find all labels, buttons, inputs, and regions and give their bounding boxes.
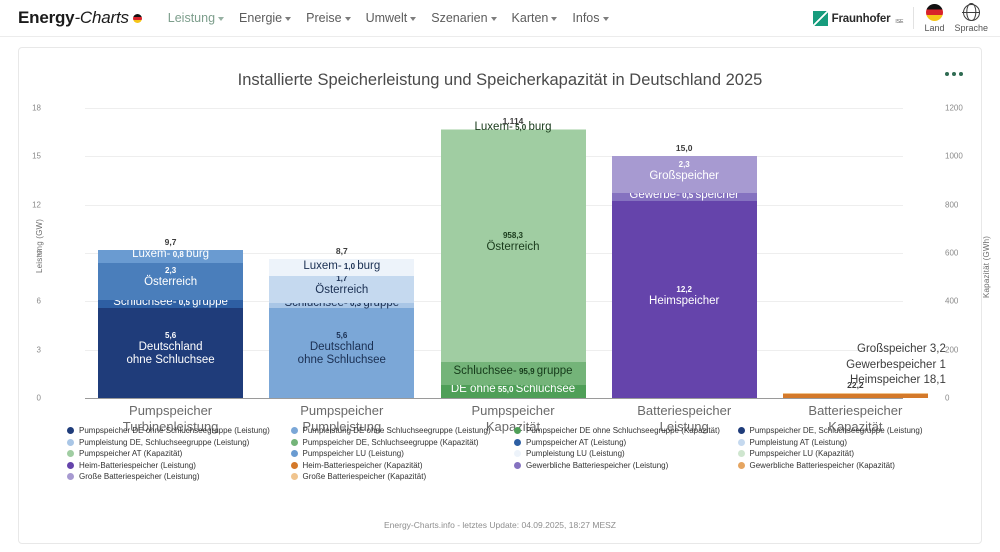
bar-segment-label: Luxem- 0,8 burg (98, 248, 243, 261)
bar-segment[interactable]: 2,3Österreich (98, 263, 243, 300)
brand-name-italic: -Charts (74, 8, 128, 28)
header-right-controls: Fraunhofer ISE Land Sprache (813, 0, 988, 36)
y-axis-right-tick: 200 (945, 345, 958, 354)
legend-item[interactable]: Pumpspeicher LU (Kapazität) (738, 449, 962, 458)
chevron-down-icon (551, 17, 557, 21)
bar-segment[interactable]: Schluchsee- 0,5 gruppe (98, 300, 243, 308)
country-selector-label: Land (924, 23, 944, 33)
bar-segment-value: 5,6 (269, 332, 414, 341)
bar-segment-label: 1,7Österreich (269, 275, 414, 297)
legend-item-label: Pumpleistung DE, Schluchseegruppe (Leist… (79, 438, 249, 447)
bar-segment-text: Deutschlandohne Schluchsee (126, 341, 214, 366)
bar-segment-text: gruppe (537, 365, 573, 377)
y-axis-right-tick: 1000 (945, 152, 963, 161)
y-axis-left-tick: 15 (1, 152, 41, 161)
language-selector-label: Sprache (954, 23, 988, 33)
bars-container: 5,6Deutschlandohne SchluchseeSchluchsee-… (85, 98, 903, 428)
top-navigation-bar: Energy-Charts Leistung Energie Preise Um… (0, 0, 1000, 37)
bar-group[interactable]: 22,2BatteriespeicherKapazitätGroßspeiche… (783, 98, 928, 428)
bar-segment[interactable]: 2,3Großspeicher (612, 156, 757, 193)
bar-segment-text: Großspeicher (649, 170, 719, 182)
legend-item-label: Pumpleistung DE ohne Schluchseegruppe (L… (303, 426, 491, 435)
nav-item-karten-label: Karten (512, 11, 549, 25)
legend-item[interactable]: Große Batteriespeicher (Leistung) (67, 472, 291, 481)
bar-segment[interactable] (783, 393, 928, 394)
bar-segment-label: 2,3Österreich (98, 267, 243, 289)
bar-segment[interactable]: 1,7Österreich (269, 276, 414, 303)
legend-item[interactable]: Pumpspeicher DE ohne Schluchseegruppe (L… (67, 426, 291, 435)
legend-color-swatch (738, 427, 745, 434)
bar-outside-label: Großspeicher 3,2 (846, 342, 946, 357)
legend-item[interactable]: Pumpleistung DE, Schluchseegruppe (Leist… (67, 438, 291, 447)
legend-item[interactable]: Pumpspeicher DE, Schluchseegruppe (Kapaz… (291, 438, 515, 447)
bar-group[interactable]: DE ohne 55,0 SchluchseeSchluchsee- 95,9 … (441, 98, 586, 428)
legend-item[interactable]: Heim-Batteriespeicher (Leistung) (67, 461, 291, 470)
bar-segment-label: 5,6Deutschlandohne Schluchsee (269, 332, 414, 367)
y-axis-left-tick: 0 (1, 394, 41, 403)
legend-item-label: Pumpspeicher DE, Schluchseegruppe (Kapaz… (303, 438, 479, 447)
bar-segment-value: 95,9 (517, 367, 537, 376)
legend-color-swatch (67, 439, 74, 446)
bar-outside-label: Heimspeicher 18,1 (846, 373, 946, 388)
bar-total-label: 8,7 (269, 246, 414, 256)
plot-area: Leistung (GW) Kapazität (GWh) 0032006400… (19, 98, 981, 428)
bar-segment[interactable]: 958,3Österreich (441, 130, 586, 362)
y-axis-left-tick: 12 (1, 200, 41, 209)
bar-segment[interactable]: Schluchsee- 0,3 gruppe (269, 303, 414, 308)
bar-segment[interactable]: Gewerbe- 0,5 speicher (612, 193, 757, 201)
legend-color-swatch (291, 427, 298, 434)
legend-color-swatch (738, 439, 745, 446)
bar-total-label: 9,7 (98, 237, 243, 247)
legend-item-label: Gewerbliche Batteriespeicher (Kapazität) (750, 461, 895, 470)
bar-segment[interactable]: Schluchsee- 95,9 gruppe (441, 362, 586, 385)
german-flag-dot-icon (133, 14, 142, 23)
legend-color-swatch (291, 450, 298, 457)
legend-color-swatch (514, 450, 521, 457)
bar-segment-value: 0,8 (170, 250, 186, 259)
bar-segment-value: 1,0 (342, 262, 358, 271)
bar-segment[interactable]: Luxem- 0,8 burg (98, 250, 243, 263)
bar-segment-text: Luxem- (132, 248, 170, 260)
legend-column: Pumpspeicher DE ohne Schluchseegruppe (K… (514, 426, 738, 484)
bar-group[interactable]: 12,2HeimspeicherGewerbe- 0,5 speicher2,3… (612, 98, 757, 428)
kebab-dot (945, 72, 949, 76)
bar-segment[interactable]: 5,6Deutschlandohne Schluchsee (269, 308, 414, 398)
legend-item-label: Pumpspeicher AT (Leistung) (526, 438, 626, 447)
bar-outside-notes: Großspeicher 3,2Gewerbespeicher 1Heimspe… (846, 342, 946, 388)
brand-name-bold: Energy (18, 8, 74, 28)
bar-segment-label: 2,3Großspeicher (612, 161, 757, 183)
page-body: Installierte Speicherleistung und Speich… (0, 37, 1000, 544)
legend-column: Pumpleistung DE ohne Schluchseegruppe (L… (291, 426, 515, 484)
legend-color-swatch (291, 473, 298, 480)
nav-item-leistung[interactable]: Leistung (168, 11, 224, 25)
globe-icon (963, 4, 980, 21)
chevron-down-icon (410, 17, 416, 21)
legend-item-label: Pumpleistung LU (Leistung) (526, 449, 625, 458)
y-axis-left-tick: 6 (1, 297, 41, 306)
legend-item-label: Pumpspeicher AT (Kapazität) (79, 449, 182, 458)
legend-item[interactable]: Große Batteriespeicher (Kapazität) (291, 472, 515, 481)
y-axis-left-tick: 18 (1, 104, 41, 113)
nav-item-infos[interactable]: Infos (572, 11, 608, 25)
bar-segment-label: 12,2Heimspeicher (612, 286, 757, 308)
y-axis-right-tick: 1200 (945, 104, 963, 113)
bar-segment-text: Österreich (315, 284, 368, 296)
bar-segment-value: 55,0 (496, 385, 516, 394)
legend-item[interactable]: Pumpspeicher DE, Schluchseegruppe (Leist… (738, 426, 962, 435)
legend-item[interactable]: Gewerbliche Batteriespeicher (Kapazität) (738, 461, 962, 470)
legend-item[interactable]: Pumpleistung LU (Leistung) (514, 449, 738, 458)
bar-segment-text: Heimspeicher (649, 295, 719, 307)
bar-segment-value: 2,3 (612, 161, 757, 170)
bar-segment-text: DE ohne (451, 383, 496, 395)
bar-total-label: 1.114 (441, 116, 586, 126)
bar-segment-text: Österreich (144, 276, 197, 288)
chart-legend: Pumpspeicher DE ohne Schluchseegruppe (L… (67, 426, 961, 484)
nav-item-energie[interactable]: Energie (239, 11, 291, 25)
country-selector[interactable]: Land (924, 4, 944, 33)
legend-item-label: Pumpspeicher DE ohne Schluchseegruppe (K… (526, 426, 720, 435)
legend-color-swatch (67, 473, 74, 480)
flag-icon (926, 4, 943, 21)
legend-column: Pumpspeicher DE, Schluchseegruppe (Leist… (738, 426, 962, 484)
bar-segment-label: 5,6Deutschlandohne Schluchsee (98, 332, 243, 367)
chart-card: Installierte Speicherleistung und Speich… (18, 47, 982, 544)
legend-item-label: Große Batteriespeicher (Kapazität) (303, 472, 427, 481)
legend-color-swatch (514, 439, 521, 446)
language-selector[interactable]: Sprache (954, 4, 988, 33)
bar-segment-value: 2,3 (98, 267, 243, 276)
bar-segment-text: Luxem- (303, 260, 341, 272)
chevron-down-icon (345, 17, 351, 21)
y-axis-left-title: Leistung (GW) (35, 219, 44, 273)
bar-segment[interactable]: DE ohne 55,0 Schluchsee (441, 385, 586, 398)
chevron-down-icon (285, 17, 291, 21)
legend-item-label: Gewerbliche Batteriespeicher (Leistung) (526, 461, 668, 470)
legend-item[interactable]: Pumpleistung AT (Leistung) (738, 438, 962, 447)
y-axis-right-tick: 400 (945, 297, 958, 306)
nav-item-preise-label: Preise (306, 11, 341, 25)
bar-segment-value: 12,2 (612, 286, 757, 295)
legend-color-swatch (67, 427, 74, 434)
site-logo[interactable]: Energy-Charts (18, 8, 142, 28)
bar-segment-label: Luxem- 1,0 burg (269, 260, 414, 273)
y-axis-right-tick: 800 (945, 200, 958, 209)
legend-color-swatch (738, 462, 745, 469)
legend-item-label: Große Batteriespeicher (Leistung) (79, 472, 200, 481)
legend-color-swatch (738, 450, 745, 457)
legend-color-swatch (291, 439, 298, 446)
chart-source-note: Energy-Charts.info - letztes Update: 04.… (19, 520, 981, 530)
legend-item-label: Heim-Batteriespeicher (Leistung) (79, 461, 196, 470)
bar-segment-value: 1,7 (269, 275, 414, 284)
bar-segment-text: burg (357, 260, 380, 272)
kebab-dot (959, 72, 963, 76)
header-divider (913, 7, 914, 29)
nav-item-szenarien[interactable]: Szenarien (431, 11, 496, 25)
kebab-menu-icon[interactable] (941, 68, 967, 80)
chevron-down-icon (218, 17, 224, 21)
legend-item-label: Pumpspeicher DE, Schluchseegruppe (Leist… (750, 426, 923, 435)
bar-group[interactable]: 5,6Deutschlandohne SchluchseeSchluchsee-… (98, 98, 243, 428)
bar-segment[interactable]: 5,6Deutschlandohne Schluchsee (98, 308, 243, 398)
legend-item-label: Pumpleistung AT (Leistung) (750, 438, 848, 447)
y-axis-right-title: Kapazität (GWh) (982, 236, 991, 298)
bar-segment-text: Deutschlandohne Schluchsee (298, 341, 386, 366)
legend-color-swatch (514, 427, 521, 434)
bar-segment-label: DE ohne 55,0 Schluchsee (441, 383, 586, 396)
legend-item[interactable]: Pumpleistung DE ohne Schluchseegruppe (L… (291, 426, 515, 435)
bar-segment-label: 958,3Österreich (441, 232, 586, 254)
main-menu: Leistung Energie Preise Umwelt Szenarien… (168, 11, 609, 25)
bar-segment[interactable] (783, 394, 928, 398)
nav-item-energie-label: Energie (239, 11, 282, 25)
nav-item-infos-label: Infos (572, 11, 599, 25)
legend-item[interactable]: Pumpspeicher AT (Kapazität) (67, 449, 291, 458)
fraunhofer-logo[interactable]: Fraunhofer ISE (813, 11, 904, 26)
bar-segment-label: Schluchsee- 95,9 gruppe (441, 365, 586, 378)
legend-item-label: Pumpspeicher LU (Leistung) (303, 449, 404, 458)
bar-segment-text: Schluchsee (516, 383, 575, 395)
fraunhofer-mark-icon (813, 11, 828, 26)
legend-color-swatch (514, 462, 521, 469)
y-axis-left-tick: 9 (1, 249, 41, 258)
nav-item-umwelt[interactable]: Umwelt (366, 11, 417, 25)
legend-item-label: Heim-Batteriespeicher (Kapazität) (303, 461, 423, 470)
legend-item[interactable]: Gewerbliche Batteriespeicher (Leistung) (514, 461, 738, 470)
legend-item[interactable]: Pumpspeicher DE ohne Schluchseegruppe (K… (514, 426, 738, 435)
fraunhofer-institute-label: ISE (895, 19, 903, 26)
kebab-dot (952, 72, 956, 76)
bar-segment-text: Schluchsee- (453, 365, 516, 377)
y-axis-right-tick: 600 (945, 249, 958, 258)
bar-segment-value: 5,6 (98, 332, 243, 341)
bar-segment-value: 958,3 (441, 232, 586, 241)
nav-item-leistung-label: Leistung (168, 11, 215, 25)
legend-color-swatch (291, 462, 298, 469)
bar-segment-text: burg (186, 248, 209, 260)
y-axis-right-tick: 0 (945, 394, 949, 403)
bar-total-label: 15,0 (612, 143, 757, 153)
bar-segment[interactable]: 12,2Heimspeicher (612, 201, 757, 398)
nav-item-karten[interactable]: Karten (512, 11, 558, 25)
bar-segment[interactable]: Luxem- 5,0 burg (441, 129, 586, 130)
chevron-down-icon (491, 17, 497, 21)
nav-item-umwelt-label: Umwelt (366, 11, 408, 25)
bar-group[interactable]: 5,6Deutschlandohne SchluchseeSchluchsee-… (269, 98, 414, 428)
nav-item-szenarien-label: Szenarien (431, 11, 487, 25)
legend-item-label: Pumpspeicher LU (Kapazität) (750, 449, 855, 458)
bar-segment[interactable]: Luxem- 1,0 burg (269, 259, 414, 275)
legend-color-swatch (67, 462, 74, 469)
legend-item-label: Pumpspeicher DE ohne Schluchseegruppe (L… (79, 426, 270, 435)
chevron-down-icon (603, 17, 609, 21)
page-title: Installierte Speicherleistung und Speich… (19, 48, 981, 90)
legend-item[interactable]: Heim-Batteriespeicher (Kapazität) (291, 461, 515, 470)
legend-item[interactable]: Pumpspeicher LU (Leistung) (291, 449, 515, 458)
fraunhofer-label: Fraunhofer (832, 14, 891, 26)
bar-outside-label: Gewerbespeicher 1 (846, 358, 946, 373)
legend-item[interactable]: Pumpspeicher AT (Leistung) (514, 438, 738, 447)
nav-item-preise[interactable]: Preise (306, 11, 350, 25)
legend-column: Pumpspeicher DE ohne Schluchseegruppe (L… (67, 426, 291, 484)
bar-segment-text: Österreich (486, 241, 539, 253)
y-axis-left-tick: 3 (1, 345, 41, 354)
legend-color-swatch (67, 450, 74, 457)
